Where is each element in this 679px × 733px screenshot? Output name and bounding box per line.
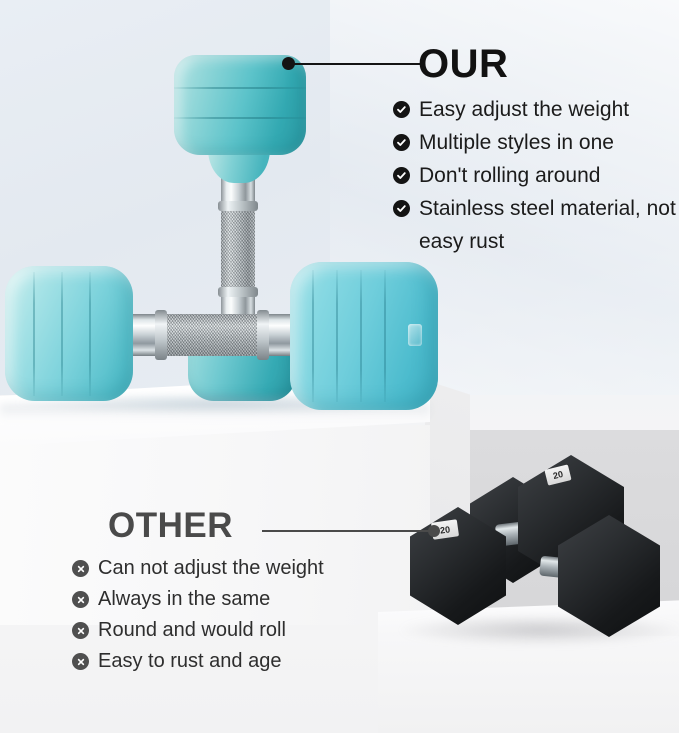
other-heading: OTHER (108, 508, 402, 543)
list-item: Multiple styles in one (393, 126, 679, 159)
black-hex-dumbbells: 20 20 (410, 455, 679, 655)
plate-groove (384, 270, 386, 402)
plate-groove (360, 270, 362, 402)
plate-groove (336, 270, 338, 402)
plate-groove (33, 272, 35, 396)
plate-groove (89, 272, 91, 396)
check-circle-icon (393, 167, 410, 184)
list-item: Can not adjust the weight (72, 553, 402, 584)
list-item: Stainless steel material, not easy rust (393, 192, 679, 258)
our-section: OUR Easy adjust the weight Multiple styl… (393, 44, 679, 258)
teal-plate-right (290, 262, 438, 410)
check-circle-icon (393, 200, 410, 217)
other-feature-list: Can not adjust the weight Always in the … (72, 553, 402, 677)
list-item-label: Multiple styles in one (419, 126, 614, 159)
list-item: Easy to rust and age (72, 646, 402, 677)
check-circle-icon (393, 101, 410, 118)
x-circle-icon (72, 622, 89, 639)
list-item: Round and would roll (72, 615, 402, 646)
teal-plate-top (174, 55, 306, 155)
plate-groove (174, 117, 306, 119)
x-circle-icon (72, 560, 89, 577)
list-item-label: Can not adjust the weight (98, 553, 324, 584)
other-section: OTHER Can not adjust the weight Always i… (72, 508, 402, 677)
plate-groove (312, 270, 314, 402)
list-item-label: Don't rolling around (419, 159, 600, 192)
chrome-collar-upper (218, 201, 258, 211)
list-item-label: Easy to rust and age (98, 646, 281, 677)
our-feature-list: Easy adjust the weight Multiple styles i… (393, 93, 679, 258)
list-item-label: Round and would roll (98, 615, 286, 646)
x-circle-icon (72, 653, 89, 670)
list-item: Don't rolling around (393, 159, 679, 192)
list-item-label: Always in the same (98, 584, 270, 615)
list-item: Always in the same (72, 584, 402, 615)
other-leader-dot (428, 525, 440, 537)
check-circle-icon (393, 134, 410, 151)
plate-groove (61, 272, 63, 396)
chrome-collar-left (155, 310, 167, 360)
chrome-handle-knurling-horizontal (163, 314, 263, 356)
plate-groove (174, 87, 306, 89)
list-item-label: Easy adjust the weight (419, 93, 629, 126)
infographic-page: 20 20 OUR Easy adjust the weight Multipl… (0, 0, 679, 733)
teal-plate-left (5, 266, 133, 401)
teal-dumbbell-lying (5, 262, 440, 412)
brand-logo-badge (408, 324, 422, 346)
our-heading: OUR (418, 44, 679, 84)
list-item-label: Stainless steel material, not easy rust (419, 192, 679, 258)
chrome-collar-right (257, 310, 269, 360)
list-item: Easy adjust the weight (393, 93, 679, 126)
x-circle-icon (72, 591, 89, 608)
